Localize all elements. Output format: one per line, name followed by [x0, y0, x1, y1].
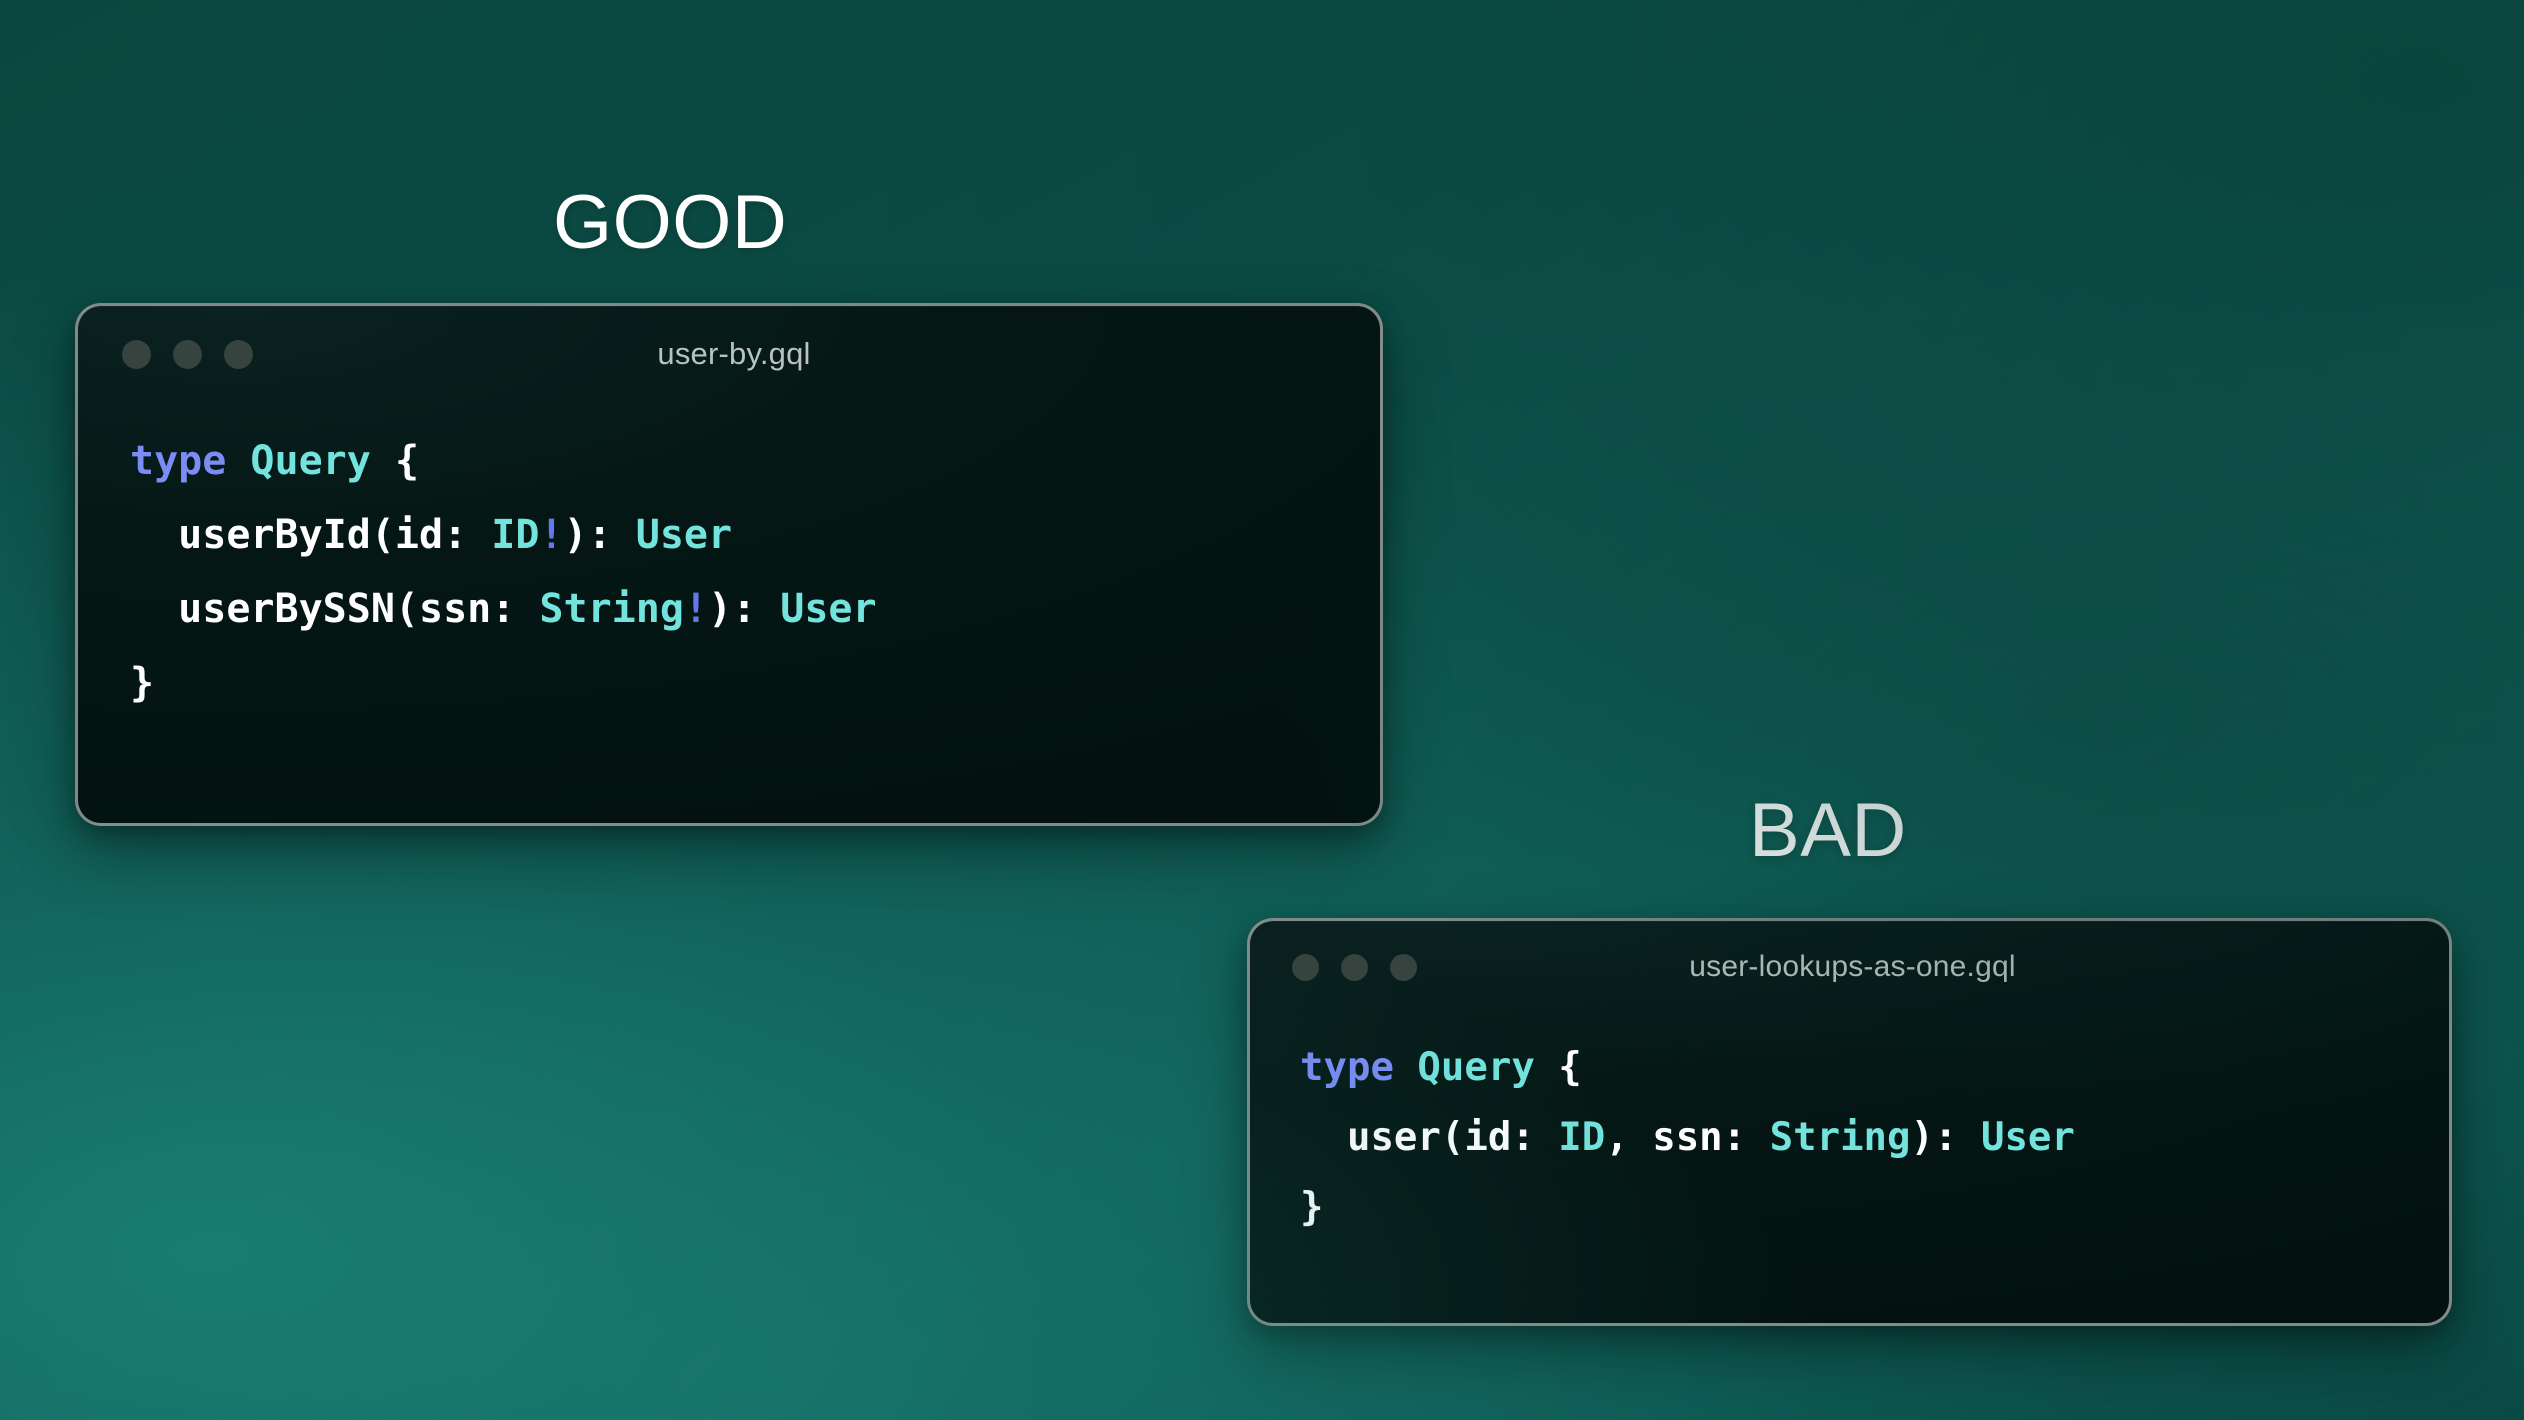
code-token-punct: [226, 438, 250, 484]
code-block-bad: type Query { user(id: ID, ssn: String): …: [1250, 1013, 2449, 1243]
window-title-bad: user-lookups-as-one.gql: [1250, 950, 2449, 984]
maximize-dot-icon[interactable]: [224, 340, 253, 369]
code-token-bang: !: [539, 512, 563, 558]
code-token-punct: [1394, 1045, 1417, 1090]
code-token-type: String: [1770, 1115, 1911, 1160]
code-token-punct: , ssn:: [1605, 1115, 1769, 1160]
code-token-type: User: [780, 586, 876, 632]
code-window-good: user-by.gql type Query { userById(id: ID…: [75, 303, 1383, 826]
window-titlebar-good: user-by.gql: [78, 306, 1380, 402]
code-line: userById(id: ID!): User: [130, 498, 1380, 572]
code-token-type: User: [636, 512, 732, 558]
code-line: }: [130, 646, 1380, 720]
close-dot-icon[interactable]: [1292, 954, 1319, 981]
code-token-field: user(id:: [1300, 1115, 1558, 1160]
code-token-type: Query: [1417, 1045, 1534, 1090]
code-token-punct: ):: [708, 586, 780, 632]
minimize-dot-icon[interactable]: [173, 340, 202, 369]
code-line: type Query {: [1300, 1033, 2449, 1103]
code-token-punct: ):: [1911, 1115, 1981, 1160]
maximize-dot-icon[interactable]: [1390, 954, 1417, 981]
code-line: type Query {: [130, 424, 1380, 498]
code-token-punct: [371, 438, 395, 484]
window-title-good: user-by.gql: [78, 336, 1380, 372]
traffic-lights-bad: [1292, 954, 1417, 981]
code-token-type: User: [1981, 1115, 2075, 1160]
code-token-type: ID: [491, 512, 539, 558]
code-token-type: ID: [1558, 1115, 1605, 1160]
minimize-dot-icon[interactable]: [1341, 954, 1368, 981]
code-window-bad: user-lookups-as-one.gql type Query { use…: [1247, 918, 2452, 1326]
code-line: }: [1300, 1173, 2449, 1243]
code-token-punct: }: [130, 660, 154, 706]
code-token-field: userById(id:: [130, 512, 491, 558]
code-token-field: userBySSN(ssn:: [130, 586, 539, 632]
close-dot-icon[interactable]: [122, 340, 151, 369]
code-token-type: Query: [250, 438, 370, 484]
code-token-punct: [1535, 1045, 1558, 1090]
code-token-keyword: type: [1300, 1045, 1394, 1090]
good-section-label: GOOD: [553, 185, 787, 261]
traffic-lights-good: [122, 340, 253, 369]
code-token-bang: !: [684, 586, 708, 632]
slide-canvas: GOOD user-by.gql type Query { userById(i…: [0, 0, 2524, 1420]
code-token-punct: {: [1558, 1045, 1581, 1090]
code-token-keyword: type: [130, 438, 226, 484]
code-token-punct: {: [395, 438, 419, 484]
code-block-good: type Query { userById(id: ID!): User use…: [78, 402, 1380, 720]
code-line: userBySSN(ssn: String!): User: [130, 572, 1380, 646]
code-token-type: String: [539, 586, 684, 632]
code-token-punct: ):: [564, 512, 636, 558]
bad-section-label: BAD: [1749, 793, 1907, 869]
window-titlebar-bad: user-lookups-as-one.gql: [1250, 921, 2449, 1013]
code-token-punct: }: [1300, 1185, 1323, 1230]
code-line: user(id: ID, ssn: String): User: [1300, 1103, 2449, 1173]
